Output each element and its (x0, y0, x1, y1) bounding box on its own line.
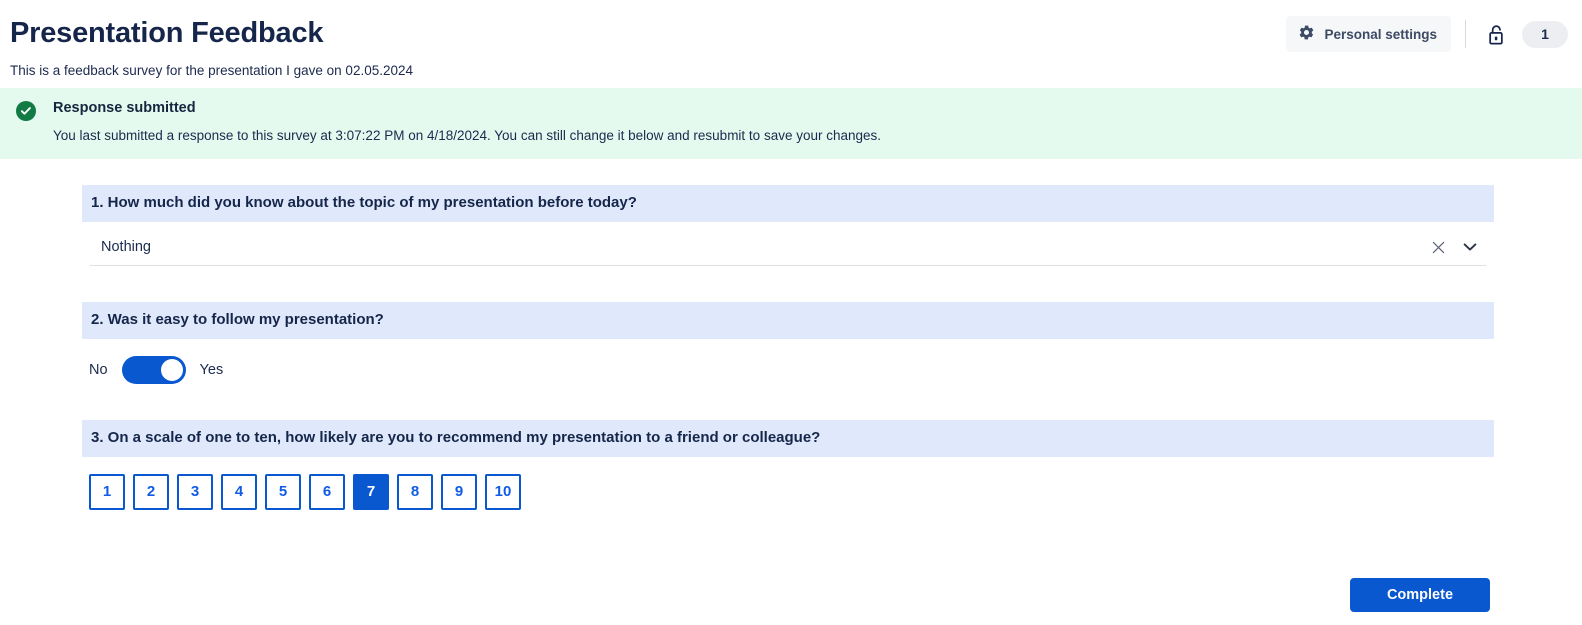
response-submitted-banner: Response submitted You last submitted a … (0, 88, 1582, 159)
toggle-off-label: No (89, 362, 108, 378)
rating-option-9[interactable]: 9 (441, 474, 477, 510)
header-divider (1465, 20, 1466, 48)
question-3-header: 3. On a scale of one to ten, how likely … (82, 420, 1494, 457)
rating-option-8[interactable]: 8 (397, 474, 433, 510)
complete-button[interactable]: Complete (1350, 578, 1490, 612)
page-header: Presentation Feedback This is a feedback… (0, 0, 1582, 88)
question-3-rating-scale: 12345678910 (82, 474, 1494, 510)
survey-body: 1. How much did you know about the topic… (0, 159, 1582, 509)
header-actions: Personal settings 1 (1286, 16, 1568, 52)
check-circle-icon (16, 101, 36, 121)
question-2: 2. Was it easy to follow my presentation… (82, 302, 1494, 384)
personal-settings-label: Personal settings (1324, 27, 1437, 42)
rating-option-7[interactable]: 7 (353, 474, 389, 510)
page-subtitle: This is a feedback survey for the presen… (10, 63, 1566, 78)
rating-option-10[interactable]: 10 (485, 474, 521, 510)
question-1-selected-value: Nothing (90, 239, 1423, 255)
close-icon[interactable] (1423, 241, 1454, 254)
toggle-knob (161, 359, 183, 381)
unlock-icon[interactable] (1480, 21, 1512, 48)
form-footer: Complete (1350, 578, 1490, 612)
question-2-header: 2. Was it easy to follow my presentation… (82, 302, 1494, 339)
question-spacer-2 (82, 384, 1494, 420)
rating-option-5[interactable]: 5 (265, 474, 301, 510)
gear-icon (1298, 24, 1315, 44)
question-spacer-1 (82, 266, 1494, 302)
rating-option-1[interactable]: 1 (89, 474, 125, 510)
toggle-on-label: Yes (200, 362, 224, 378)
question-2-toggle-row: No Yes (82, 356, 1494, 384)
banner-title: Response submitted (53, 100, 881, 117)
question-2-toggle[interactable] (122, 356, 186, 384)
rating-option-4[interactable]: 4 (221, 474, 257, 510)
rating-option-6[interactable]: 6 (309, 474, 345, 510)
question-1-select[interactable]: Nothing (90, 230, 1486, 266)
rating-option-2[interactable]: 2 (133, 474, 169, 510)
banner-description: You last submitted a response to this su… (53, 128, 881, 143)
question-1: 1. How much did you know about the topic… (82, 185, 1494, 266)
question-3: 3. On a scale of one to ten, how likely … (82, 420, 1494, 510)
chevron-down-icon[interactable] (1454, 242, 1486, 252)
personal-settings-button[interactable]: Personal settings (1286, 16, 1451, 52)
rating-option-3[interactable]: 3 (177, 474, 213, 510)
response-count-badge[interactable]: 1 (1522, 21, 1568, 48)
question-1-header: 1. How much did you know about the topic… (82, 185, 1494, 222)
